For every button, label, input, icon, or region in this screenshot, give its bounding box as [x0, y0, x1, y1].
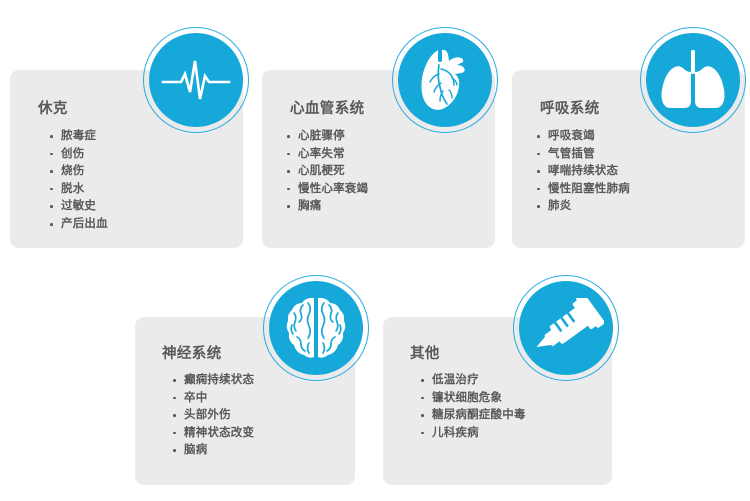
list-item-label: 精神状态改变 — [184, 427, 254, 439]
ecg-pulse-icon — [149, 33, 243, 127]
list-item-label: 脱水 — [61, 183, 84, 195]
bullet-icon — [173, 449, 176, 452]
list-item: 产后出血 — [50, 216, 108, 234]
list-item: 气管插管 — [537, 146, 630, 164]
card-item-list: 呼吸衰竭 气管插管 哮喘持续状态 慢性阻塞性肺病 肺炎 — [537, 128, 630, 216]
bullet-icon — [50, 170, 53, 173]
card-title: 其他 — [410, 342, 440, 363]
list-item-label: 糖尿病酮症酸中毒 — [432, 409, 526, 421]
list-item-label: 癫痫持续状态 — [184, 374, 254, 386]
list-item: 心率失常 — [287, 146, 368, 164]
list-item-label: 儿科疾病 — [432, 427, 479, 439]
bullet-icon — [287, 135, 290, 138]
list-item: 卒中 — [173, 390, 254, 408]
bullet-icon — [287, 188, 290, 191]
card-item-list: 低温治疗 镰状细胞危象 糖尿病酮症酸中毒 儿科疾病 — [421, 372, 526, 442]
bullet-icon — [50, 153, 53, 156]
list-item: 癫痫持续状态 — [173, 372, 254, 390]
list-item-label: 心率失常 — [298, 148, 345, 160]
list-item-label: 卒中 — [184, 392, 207, 404]
list-item: 精神状态改变 — [173, 425, 254, 443]
bullet-icon — [173, 379, 176, 382]
list-item: 胸痛 — [287, 198, 368, 216]
list-item: 脑病 — [173, 442, 254, 460]
list-item: 低温治疗 — [421, 372, 526, 390]
bullet-icon — [537, 205, 540, 208]
list-item-label: 胸痛 — [298, 200, 321, 212]
list-item-label: 慢性阻塞性肺病 — [548, 183, 630, 195]
list-item-label: 过敏史 — [61, 200, 96, 212]
lungs-icon — [646, 33, 740, 127]
list-item-label: 创伤 — [61, 148, 84, 160]
badge-cardiovascular — [392, 27, 498, 133]
bullet-icon — [173, 432, 176, 435]
list-item: 头部外伤 — [173, 407, 254, 425]
bullet-icon — [537, 135, 540, 138]
bullet-icon — [50, 205, 53, 208]
list-item-label: 镰状细胞危象 — [432, 392, 502, 404]
badge-shock — [143, 27, 249, 133]
card-title: 神经系统 — [162, 342, 222, 363]
card-item-list: 脓毒症 创伤 烧伤 脱水 过敏史 产后出血 — [50, 128, 108, 234]
list-item-label: 心肌梗死 — [298, 165, 345, 177]
list-item: 心脏骤停 — [287, 128, 368, 146]
card-title: 休克 — [38, 97, 68, 118]
badge-neurological — [263, 275, 369, 381]
list-item: 心肌梗死 — [287, 163, 368, 181]
card-item-list: 心脏骤停 心率失常 心肌梗死 慢性心率衰竭 胸痛 — [287, 128, 368, 216]
bullet-icon — [287, 170, 290, 173]
bullet-icon — [421, 397, 424, 400]
list-item: 慢性阻塞性肺病 — [537, 181, 630, 199]
bullet-icon — [537, 170, 540, 173]
syringe-icon — [519, 281, 613, 375]
infographic-board: 休克 脓毒症 创伤 烧伤 脱水 过敏史 产后出血 心血管系统 心脏骤停 心率失常… — [0, 0, 750, 501]
list-item: 哮喘持续状态 — [537, 163, 630, 181]
bullet-icon — [50, 135, 53, 138]
bullet-icon — [537, 153, 540, 156]
list-item: 呼吸衰竭 — [537, 128, 630, 146]
heart-icon — [398, 33, 492, 127]
bullet-icon — [421, 379, 424, 382]
badge-respiratory — [640, 27, 746, 133]
list-item-label: 慢性心率衰竭 — [298, 183, 368, 195]
list-item-label: 脓毒症 — [61, 130, 96, 142]
list-item-label: 头部外伤 — [184, 409, 231, 421]
list-item: 脓毒症 — [50, 128, 108, 146]
bullet-icon — [173, 414, 176, 417]
list-item-label: 呼吸衰竭 — [548, 130, 595, 142]
list-item-label: 烧伤 — [61, 165, 84, 177]
list-item: 肺炎 — [537, 198, 630, 216]
list-item-label: 脑病 — [184, 444, 207, 456]
list-item-label: 哮喘持续状态 — [548, 165, 618, 177]
list-item: 脱水 — [50, 181, 108, 199]
list-item-label: 气管插管 — [548, 148, 595, 160]
list-item: 慢性心率衰竭 — [287, 181, 368, 199]
brain-icon — [269, 281, 363, 375]
badge-other — [513, 275, 619, 381]
bullet-icon — [287, 205, 290, 208]
bullet-icon — [421, 414, 424, 417]
card-item-list: 癫痫持续状态 卒中 头部外伤 精神状态改变 脑病 — [173, 372, 254, 460]
bullet-icon — [173, 397, 176, 400]
bullet-icon — [50, 223, 53, 226]
list-item-label: 心脏骤停 — [298, 130, 345, 142]
bullet-icon — [287, 153, 290, 156]
bullet-icon — [421, 432, 424, 435]
list-item: 创伤 — [50, 146, 108, 164]
list-item-label: 产后出血 — [61, 218, 108, 230]
list-item: 糖尿病酮症酸中毒 — [421, 407, 526, 425]
bullet-icon — [537, 188, 540, 191]
card-title: 呼吸系统 — [540, 97, 600, 118]
list-item-label: 肺炎 — [548, 200, 571, 212]
list-item: 儿科疾病 — [421, 425, 526, 443]
card-title: 心血管系统 — [290, 97, 365, 118]
list-item: 烧伤 — [50, 163, 108, 181]
list-item-label: 低温治疗 — [432, 374, 479, 386]
list-item: 镰状细胞危象 — [421, 390, 526, 408]
list-item: 过敏史 — [50, 198, 108, 216]
bullet-icon — [50, 188, 53, 191]
